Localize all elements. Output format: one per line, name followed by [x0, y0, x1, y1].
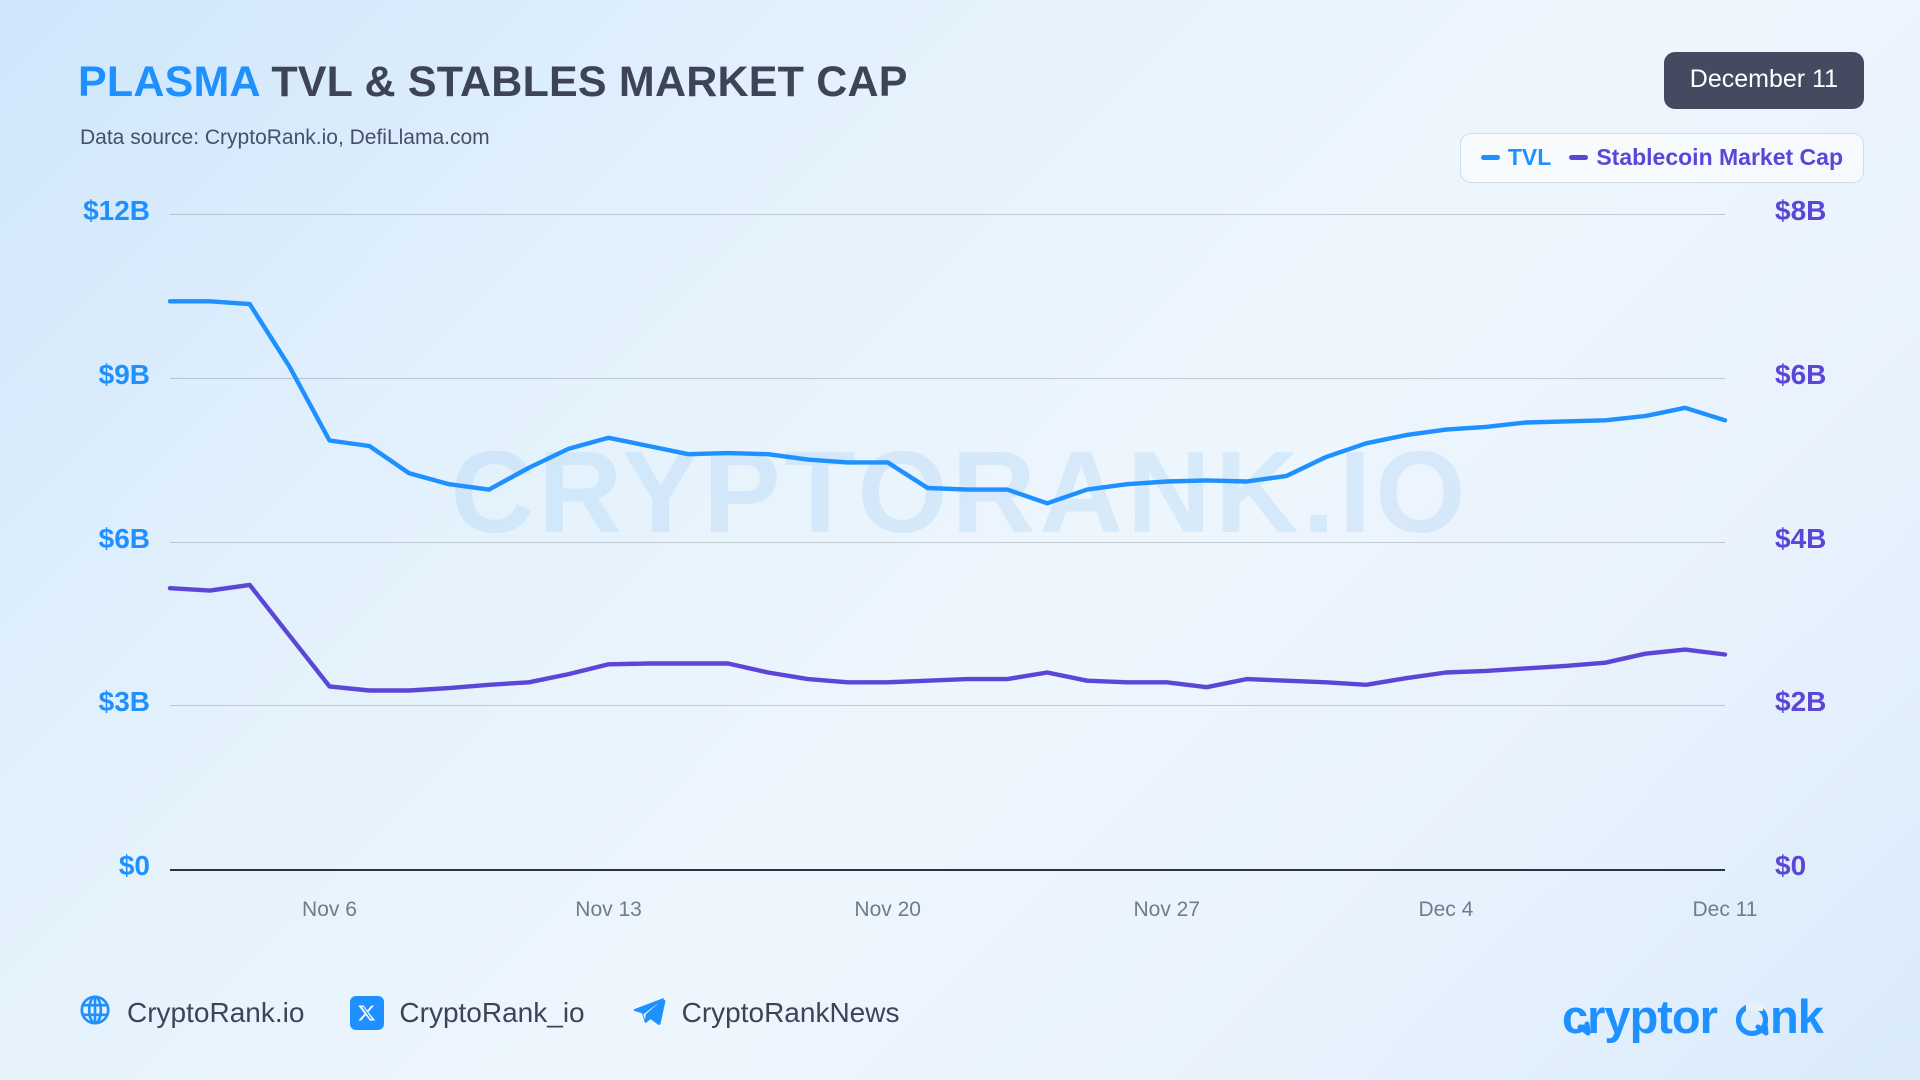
svg-text:nk: nk: [1770, 991, 1825, 1043]
chart-header: PLASMA TVL & STABLES MARKET CAP Data sou…: [0, 0, 1920, 175]
series-lines: [0, 175, 1920, 965]
legend-item-stablecoin[interactable]: Stablecoin Market Cap: [1569, 144, 1843, 171]
legend-label-tvl: TVL: [1508, 144, 1551, 171]
legend-dash-icon: [1481, 155, 1500, 160]
social-links: CryptoRank.io CryptoRank_io CryptoRankNe…: [78, 993, 899, 1032]
svg-text:cryptor: cryptor: [1562, 991, 1718, 1043]
social-link-telegram[interactable]: CryptoRankNews: [631, 993, 900, 1032]
globe-icon: [78, 993, 112, 1032]
series-line-tvl: [170, 301, 1725, 503]
cryptorank-logo: cryptor nk: [1562, 991, 1862, 1047]
series-line-stablecoin-market-cap: [170, 585, 1725, 691]
legend-item-tvl[interactable]: TVL: [1481, 144, 1551, 171]
legend-dash-icon: [1569, 155, 1588, 160]
page-title: PLASMA TVL & STABLES MARKET CAP: [78, 58, 908, 107]
date-badge: December 11: [1664, 52, 1864, 109]
title-rest: TVL & STABLES MARKET CAP: [259, 58, 907, 106]
chart-area: CRYPTORANK.IO $0$3B$6B$9B$12B $0$2B$4B$6…: [0, 175, 1920, 965]
data-source-subtitle: Data source: CryptoRank.io, DefiLlama.co…: [80, 126, 490, 150]
social-label-website: CryptoRank.io: [127, 997, 304, 1029]
social-link-website[interactable]: CryptoRank.io: [78, 993, 304, 1032]
title-accent: PLASMA: [78, 58, 259, 106]
chart-footer: CryptoRank.io CryptoRank_io CryptoRankNe…: [0, 965, 1920, 1080]
x-twitter-icon: [350, 996, 384, 1030]
social-label-x: CryptoRank_io: [399, 997, 584, 1029]
social-link-x[interactable]: CryptoRank_io: [350, 996, 584, 1030]
social-label-telegram: CryptoRankNews: [682, 997, 900, 1029]
telegram-icon: [631, 993, 667, 1032]
legend-label-stablecoin: Stablecoin Market Cap: [1596, 144, 1843, 171]
